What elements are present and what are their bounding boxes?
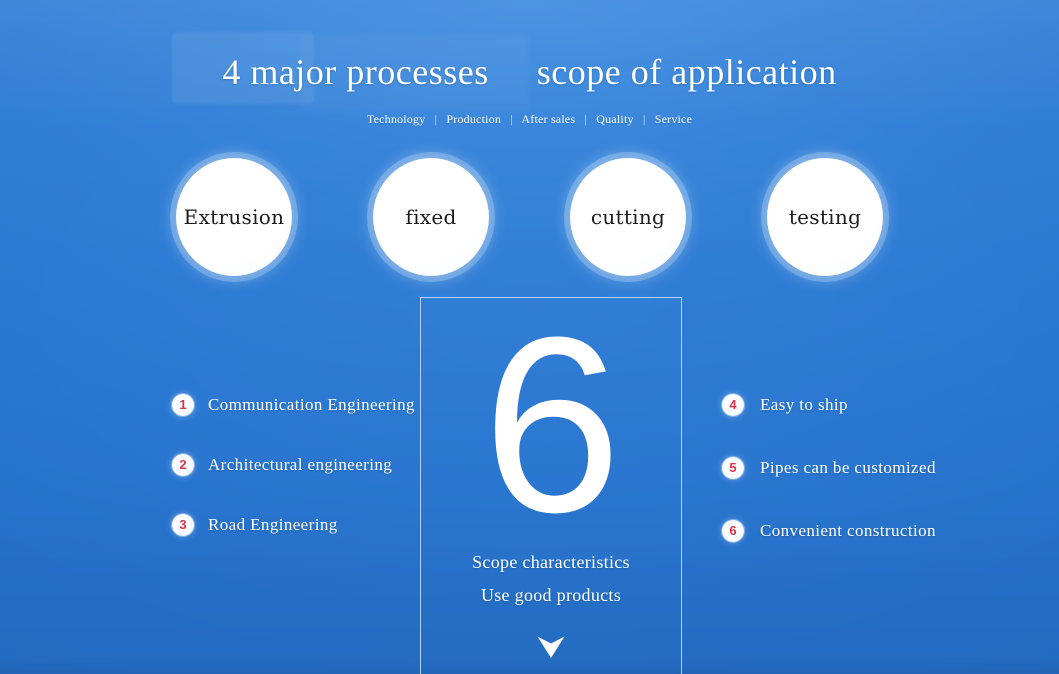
list-item[interactable]: 2 Architectural engineering (172, 452, 422, 478)
process-circle-row: Extrusion fixed cutting testing (0, 158, 1059, 282)
list-item-number-badge: 5 (722, 457, 744, 479)
header: 4 major processesscope of application Te… (0, 50, 1059, 127)
scope-center-panel: 6 Scope characteristics Use good product… (420, 297, 682, 674)
subtitle-bar: Technology | Production | After sales | … (0, 112, 1059, 127)
subtitle-separator: | (435, 112, 438, 127)
list-item-label: Convenient construction (760, 520, 936, 542)
scroll-hint (421, 634, 681, 660)
list-item-number-badge: 1 (172, 394, 194, 416)
poster-root: 4 major processesscope of application Te… (0, 0, 1059, 674)
subtitle-item-production: Production (446, 112, 501, 126)
page-title-right: scope of application (537, 52, 837, 92)
process-circle-label: cutting (591, 206, 665, 228)
list-item[interactable]: 6 Convenient construction (722, 518, 1022, 544)
list-item-label: Architectural engineering (208, 454, 392, 476)
process-circle-fixed[interactable]: fixed (373, 158, 489, 276)
list-item[interactable]: 5 Pipes can be customized (722, 455, 1022, 481)
process-circle-label: testing (789, 206, 861, 228)
scope-caption-line-1: Scope characteristics (421, 551, 681, 573)
subtitle-separator: | (643, 112, 646, 127)
feature-list-left: 1 Communication Engineering 2 Architectu… (172, 392, 422, 572)
subtitle-item-technology: Technology (367, 112, 425, 126)
chevron-down-icon (536, 634, 566, 660)
list-item-number-badge: 2 (172, 454, 194, 476)
list-item-label: Communication Engineering (208, 394, 415, 416)
list-item-label: Pipes can be customized (760, 457, 936, 479)
list-item-label: Easy to ship (760, 394, 848, 416)
scope-count-number: 6 (421, 310, 681, 540)
list-item[interactable]: 3 Road Engineering (172, 512, 422, 538)
process-circle-label: fixed (405, 206, 456, 228)
subtitle-item-quality: Quality (596, 112, 633, 126)
subtitle-separator: | (510, 112, 513, 127)
feature-list-right: 4 Easy to ship 5 Pipes can be customized… (722, 392, 1022, 581)
page-title-left: 4 major processes (222, 52, 536, 92)
list-item-number-badge: 6 (722, 520, 744, 542)
subtitle-item-after-sales: After sales (521, 112, 575, 126)
subtitle-separator: | (584, 112, 587, 127)
subtitle-item-service: Service (655, 112, 692, 126)
process-circle-label: Extrusion (184, 206, 285, 228)
page-title: 4 major processesscope of application (0, 50, 1059, 94)
scope-caption-line-2: Use good products (421, 584, 681, 606)
list-item-number-badge: 4 (722, 394, 744, 416)
list-item[interactable]: 1 Communication Engineering (172, 392, 422, 418)
list-item[interactable]: 4 Easy to ship (722, 392, 1022, 418)
list-item-label: Road Engineering (208, 514, 338, 536)
process-circle-testing[interactable]: testing (767, 158, 883, 276)
list-item-number-badge: 3 (172, 514, 194, 536)
process-circle-extrusion[interactable]: Extrusion (176, 158, 292, 276)
process-circle-cutting[interactable]: cutting (570, 158, 686, 276)
